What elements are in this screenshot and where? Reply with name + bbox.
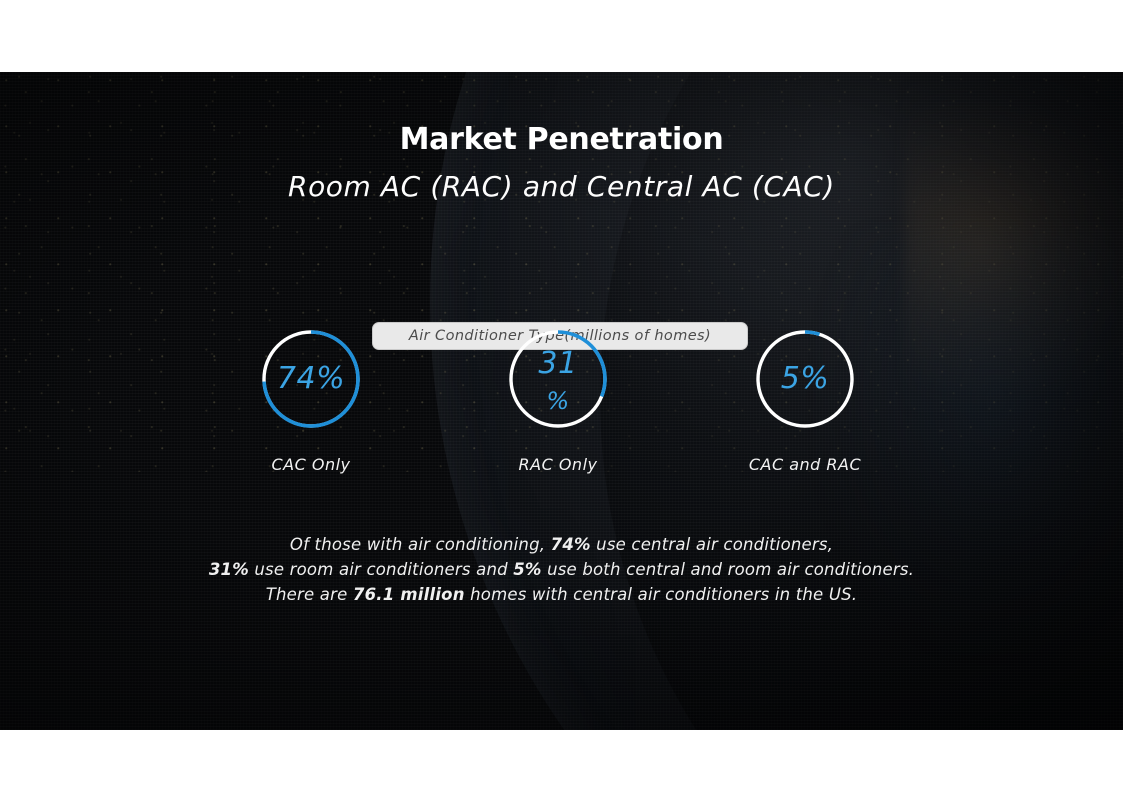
caption-text: use central air conditioners,	[591, 535, 833, 554]
caption-line-2: 31% use room air conditioners and 5% use…	[0, 557, 1123, 582]
caption-line-1: Of those with air conditioning, 74% use …	[0, 532, 1123, 557]
donut-ring-graphic: 5%	[753, 327, 857, 431]
caption-line-3: There are 76.1 million homes with centra…	[0, 582, 1123, 607]
page-subtitle: Room AC (RAC) and Central AC (CAC)	[0, 170, 1123, 203]
page-title: Market Penetration	[0, 122, 1123, 157]
donut-value-number: 31	[514, 349, 602, 379]
donut-ring-label: CAC and RAC	[705, 455, 905, 474]
caption-highlight-761: 76.1 million	[353, 585, 465, 604]
donut-value-number: 74	[277, 364, 316, 394]
caption-text: There are	[266, 585, 353, 604]
donut-percent-sign: %	[800, 364, 829, 394]
donut-ring-label: CAC Only	[211, 455, 411, 474]
donut-ring-rac-only: 31% RAC Only	[458, 327, 658, 474]
caption-highlight-31: 31%	[209, 560, 249, 579]
slide-canvas: Market Penetration Room AC (RAC) and Cen…	[0, 72, 1123, 730]
donut-value-text: 5%	[761, 327, 849, 431]
caption-text: homes with central air conditioners in t…	[465, 585, 858, 604]
donut-ring-cac-only: 74% CAC Only	[211, 327, 411, 474]
donut-value-text: 74%	[267, 327, 355, 431]
caption-highlight-74: 74%	[551, 535, 591, 554]
donut-value-text: 31%	[514, 327, 602, 431]
donut-ring-label: RAC Only	[458, 455, 658, 474]
caption-text: Of those with air conditioning,	[290, 535, 551, 554]
donut-ring-group: 74% CAC Only 31% RAC Only	[0, 327, 1123, 547]
caption-text: use both central and room air conditione…	[542, 560, 914, 579]
caption-block: Of those with air conditioning, 74% use …	[0, 532, 1123, 607]
caption-highlight-5: 5%	[513, 560, 541, 579]
donut-percent-sign: %	[514, 389, 602, 413]
donut-ring-graphic: 31%	[506, 327, 610, 431]
donut-ring-cac-and-rac: 5% CAC and RAC	[705, 327, 905, 474]
donut-ring-graphic: 74%	[259, 327, 363, 431]
caption-text: use room air conditioners and	[249, 560, 513, 579]
donut-percent-sign: %	[316, 364, 345, 394]
donut-value-number: 5	[781, 364, 801, 394]
